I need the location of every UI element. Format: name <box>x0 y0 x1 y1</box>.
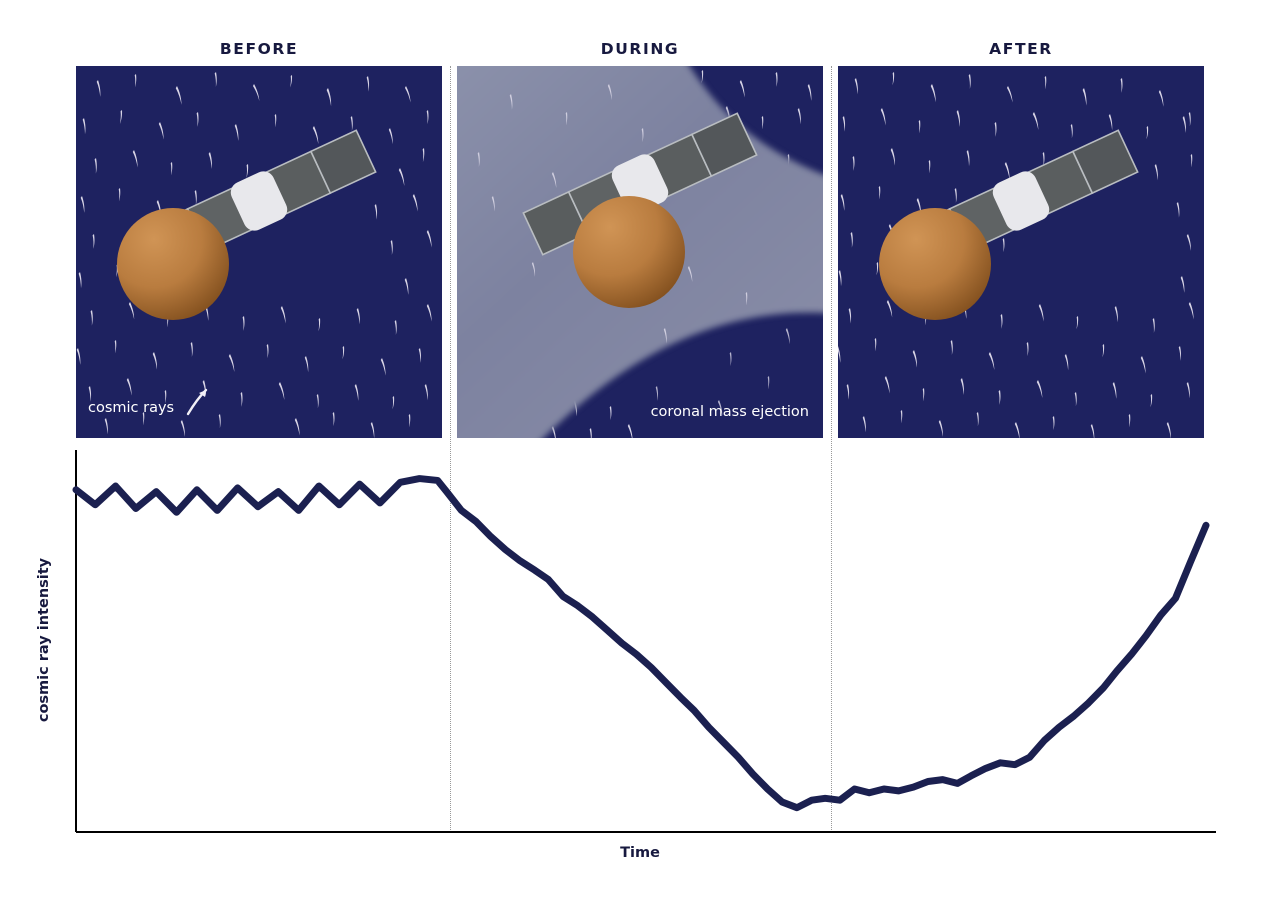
coronal-mass-ejection-label: coronal mass ejection <box>651 404 809 420</box>
panel-title-during: DURING <box>457 40 823 58</box>
cosmic-ray-intensity-line <box>76 479 1206 808</box>
forbush-decrease-infographic: BEFORE DURING AFTER <box>0 0 1280 905</box>
x-axis-label: Time <box>0 845 1280 861</box>
y-axis-label-text: cosmic ray intensity <box>36 558 52 722</box>
planet <box>117 208 229 320</box>
panel-title-after: AFTER <box>838 40 1204 58</box>
y-axis-label: cosmic ray intensity <box>34 520 54 760</box>
panel-title-before: BEFORE <box>76 40 442 58</box>
cosmic-ray-intensity-chart <box>0 440 1280 840</box>
illustration-panel-before: cosmic rays <box>76 66 442 438</box>
illustration-panel-during: coronal mass ejection <box>457 66 823 438</box>
scene-after <box>838 66 1204 438</box>
planet <box>573 196 685 308</box>
scene-before <box>76 66 442 438</box>
planet <box>879 208 991 320</box>
scene-during <box>457 66 823 438</box>
illustration-panel-after <box>838 66 1204 438</box>
cosmic-rays-label: cosmic rays <box>88 400 174 416</box>
